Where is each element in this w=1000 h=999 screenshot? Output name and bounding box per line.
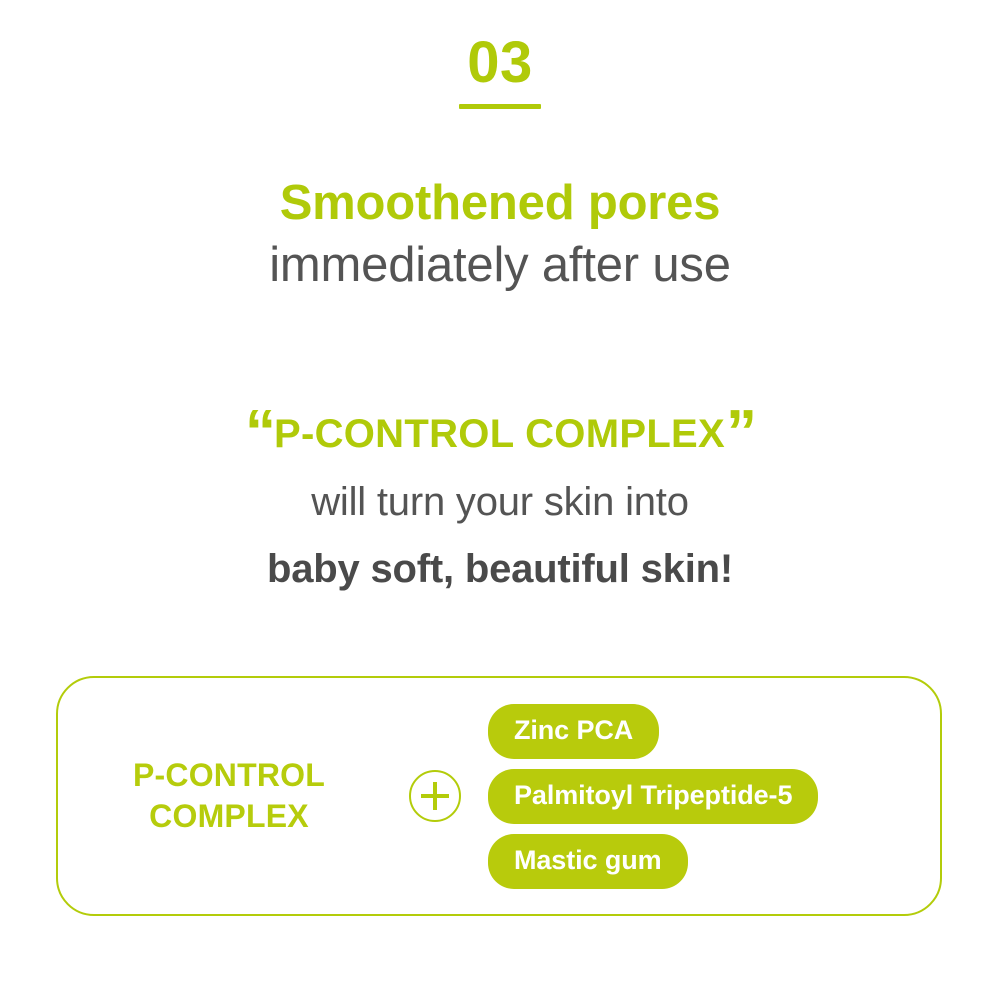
quote-close-mark-icon: ”: [726, 398, 755, 467]
complex-name-line-1: P-CONTROL: [64, 755, 394, 796]
step-indicator: 03: [0, 34, 1000, 109]
headline-line-1: Smoothened pores: [0, 175, 1000, 233]
step-number: 03: [467, 34, 533, 92]
card-inner-row: P-CONTROL COMPLEX Zinc PCA Palmitoyl Tri…: [58, 678, 940, 914]
headline-line-2: immediately after use: [0, 237, 1000, 295]
plus-circle-icon: [408, 769, 462, 823]
p-control-complex-card: P-CONTROL COMPLEX Zinc PCA Palmitoyl Tri…: [56, 676, 942, 916]
complex-name-label: P-CONTROL COMPLEX: [64, 755, 394, 837]
headline: Smoothened pores immediately after use: [0, 175, 1000, 295]
ingredient-pill-list: Zinc PCA Palmitoyl Tripeptide-5 Mastic g…: [488, 704, 818, 889]
complex-name-line-2: COMPLEX: [64, 796, 394, 837]
quote-line-2: will turn your skin into: [0, 480, 1000, 525]
quote-block: “P-CONTROL COMPLEX” will turn your skin …: [0, 400, 1000, 592]
step-underline-divider: [459, 104, 541, 109]
quote-open-mark-icon: “: [245, 398, 274, 467]
ingredient-pill: Zinc PCA: [488, 704, 659, 759]
promo-slide: 03 Smoothened pores immediately after us…: [0, 0, 1000, 999]
quote-highlight-text: P-CONTROL COMPLEX: [274, 412, 725, 456]
ingredient-pill: Palmitoyl Tripeptide-5: [488, 769, 818, 824]
quote-headline-line: “P-CONTROL COMPLEX”: [0, 400, 1000, 462]
quote-line-3: baby soft, beautiful skin!: [0, 547, 1000, 592]
ingredient-pill: Mastic gum: [488, 834, 688, 889]
